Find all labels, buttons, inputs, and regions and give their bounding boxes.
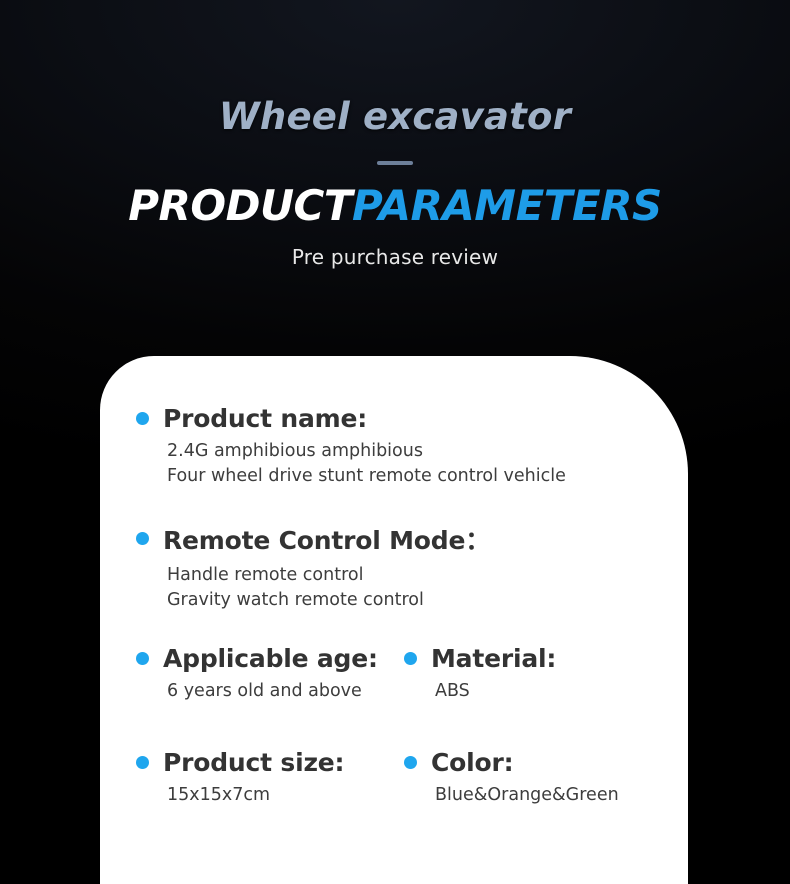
spec-row-size-color: Product size: 15x15x7cm Color: Blue&Oran… (136, 748, 688, 820)
spec-product-name: Product name: 2.4G amphibious amphibious… (136, 404, 688, 489)
spec-value-line: 15x15x7cm (167, 783, 404, 808)
bullet-dot-icon (136, 412, 149, 425)
spec-value-line: Four wheel drive stunt remote control ve… (167, 464, 688, 489)
spec-material: Material: ABS (404, 644, 688, 704)
specs-card: Product name: 2.4G amphibious amphibious… (100, 356, 688, 884)
spec-label-color: Color: (431, 748, 513, 777)
page-title-part-parameters: PARAMETERS (352, 181, 662, 230)
spec-label-product-size: Product size: (163, 748, 344, 777)
spec-product-size: Product size: 15x15x7cm (136, 748, 404, 808)
header-block: Wheel excavator PRODUCTPARAMETERS Pre pu… (0, 96, 790, 269)
page-title-part-product: PRODUCT (128, 181, 352, 230)
bullet-dot-icon (136, 756, 149, 769)
spec-values: 6 years old and above (167, 679, 404, 704)
spec-label-product-name: Product name: (163, 404, 367, 433)
spec-value-line: Blue&Orange&Green (435, 783, 688, 808)
spec-values: 2.4G amphibious amphibious Four wheel dr… (167, 439, 688, 489)
spec-row-age-material: Applicable age: 6 years old and above Ma… (136, 644, 688, 716)
spec-header: Color: (404, 748, 688, 777)
spec-applicable-age: Applicable age: 6 years old and above (136, 644, 404, 704)
spec-header: Remote Control Mode： (136, 521, 688, 557)
spec-value-line: Gravity watch remote control (167, 588, 688, 613)
bullet-dot-icon (136, 532, 149, 545)
page-eyebrow-title: Wheel excavator (0, 96, 790, 139)
spec-header: Product size: (136, 748, 404, 777)
horizontal-rule-divider-icon (377, 161, 413, 165)
page-background: Wheel excavator PRODUCTPARAMETERS Pre pu… (0, 0, 790, 884)
spec-header: Material: (404, 644, 688, 673)
bullet-dot-icon (136, 652, 149, 665)
spec-values: ABS (435, 679, 688, 704)
spacer (136, 501, 688, 521)
bullet-dot-icon (404, 756, 417, 769)
spec-header: Applicable age: (136, 644, 404, 673)
page-title: PRODUCTPARAMETERS (0, 183, 790, 229)
bullet-dot-icon (404, 652, 417, 665)
spec-header: Product name: (136, 404, 688, 433)
spec-value-line: Handle remote control (167, 563, 688, 588)
spec-remote-control-mode: Remote Control Mode： Handle remote contr… (136, 521, 688, 613)
spacer (136, 624, 688, 644)
spec-value-line: 6 years old and above (167, 679, 404, 704)
spec-color: Color: Blue&Orange&Green (404, 748, 688, 808)
spec-values: Handle remote control Gravity watch remo… (167, 563, 688, 613)
specs-card-content: Product name: 2.4G amphibious amphibious… (136, 404, 688, 884)
spec-label-remote-control-mode: Remote Control Mode： (163, 521, 490, 557)
page-subtitle: Pre purchase review (0, 245, 790, 269)
spec-values: 15x15x7cm (167, 783, 404, 808)
spec-value-line: 2.4G amphibious amphibious (167, 439, 688, 464)
spec-values: Blue&Orange&Green (435, 783, 688, 808)
spec-label-applicable-age: Applicable age: (163, 644, 378, 673)
spec-label-material: Material: (431, 644, 556, 673)
spacer (136, 728, 688, 748)
spec-value-line: ABS (435, 679, 688, 704)
